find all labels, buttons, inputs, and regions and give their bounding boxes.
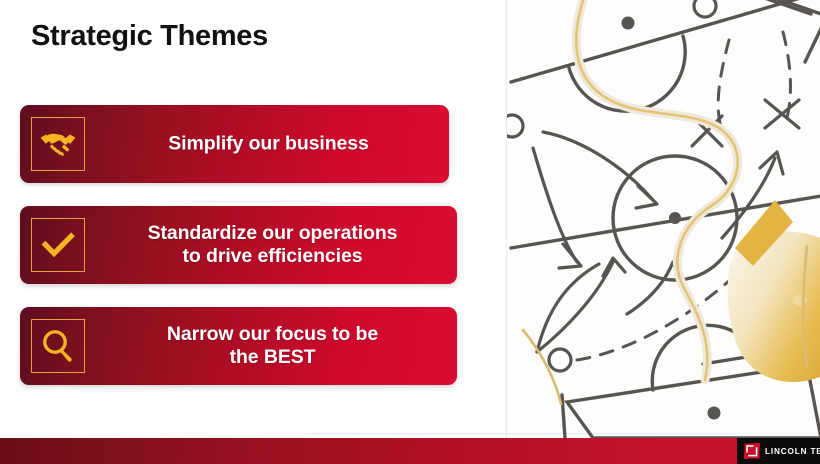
footer-bar: LINCOLN TECH	[0, 438, 820, 464]
content-panel: Strategic Themes Simplify	[0, 0, 506, 438]
page-title: Strategic Themes	[31, 20, 268, 53]
theme-banner-label: Simplify our business	[98, 133, 439, 156]
theme-banner-simplify[interactable]: Simplify our business	[20, 105, 449, 183]
sports-playbook-diagram	[507, 0, 820, 438]
logo-text: LINCOLN TECH	[765, 447, 820, 456]
theme-banner-label: Narrow our focus to be the BEST	[98, 323, 447, 369]
slide-canvas: Strategic Themes Simplify	[0, 0, 820, 464]
theme-banner-label: Standardize our operations to drive effi…	[98, 222, 447, 268]
theme-banner-standardize[interactable]: Standardize our operations to drive effi…	[20, 206, 457, 284]
magnifier-icon	[31, 319, 85, 373]
lincoln-tech-logo: LINCOLN TECH	[737, 438, 820, 464]
playbook-illustration-panel	[506, 0, 820, 438]
handshake-icon	[31, 117, 85, 171]
lincoln-tech-square-icon	[744, 443, 760, 459]
checkmark-icon	[31, 218, 85, 272]
theme-banner-narrow-focus[interactable]: Narrow our focus to be the BEST	[20, 307, 457, 385]
